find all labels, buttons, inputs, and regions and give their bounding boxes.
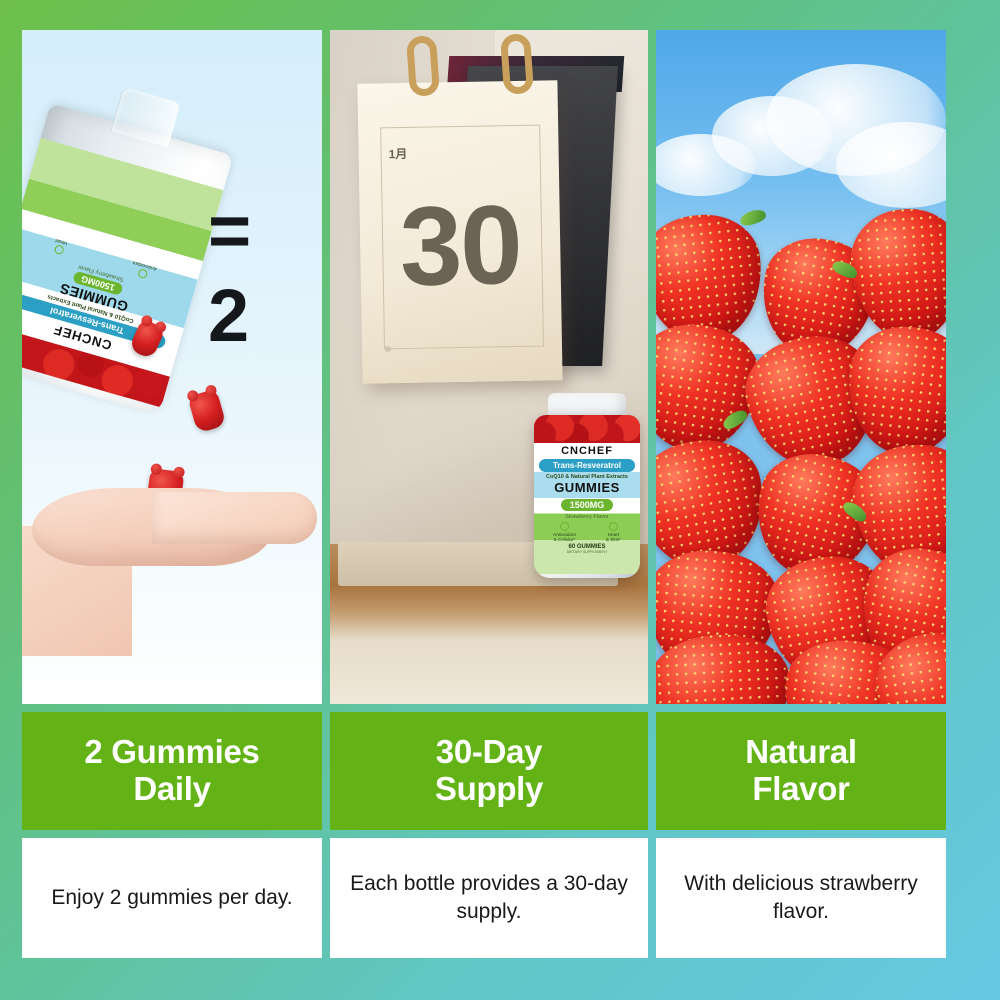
- body-row: Enjoy 2 gummies per day. Each bottle pro…: [22, 838, 978, 958]
- bottle-label-form: GUMMIES: [534, 480, 640, 495]
- bottle-claim-heart-l2: & Skin*: [606, 537, 621, 542]
- heart-icon: [609, 522, 618, 531]
- infographic-frame: CNCHEF Trans-Resveratrol CoQ10 & Natural…: [22, 30, 978, 958]
- body-flavor: With delicious strawberry flavor.: [656, 838, 946, 958]
- panel-image-flavor: [656, 30, 946, 704]
- headline-supply-line2: Supply: [435, 770, 543, 807]
- bottle-claim-heart: Heart & Skin*: [606, 522, 621, 542]
- claim-heart: Heart: [52, 237, 68, 256]
- strawberry-leaf: [739, 208, 768, 228]
- calendar-day: 30: [359, 188, 561, 303]
- product-bottle: CNCHEF Trans-Resveratrol CoQ10 & Natural…: [534, 393, 640, 578]
- headline-supply: 30-Day Supply: [330, 712, 648, 830]
- equals-two-overlay: = 2: [208, 188, 322, 358]
- divider-above-body: [22, 830, 978, 838]
- headline-dosage-line2: Daily: [133, 770, 210, 807]
- bottle-claim-antioxidant-l2: & Cellular*: [553, 537, 576, 542]
- bottle-label-strength: 1500MG: [561, 499, 614, 511]
- bottle-label-brand: CNCHEF: [534, 445, 640, 457]
- hand-fingers: [152, 492, 317, 544]
- headline-row: 2 Gummies Daily 30-Day Supply Natural Fl…: [22, 712, 978, 830]
- divider-above-headlines: [22, 704, 978, 712]
- calendar-ring: [406, 35, 440, 97]
- body-supply: Each bottle provides a 30-day supply.: [330, 838, 648, 958]
- calendar-front-page: 1月 30 ❊: [357, 80, 562, 383]
- leaf-icon: [560, 522, 569, 531]
- bottle-label-claims: Antioxidant & Cellular* Heart & Skin*: [534, 522, 640, 542]
- panel-image-dosage: CNCHEF Trans-Resveratrol CoQ10 & Natural…: [22, 30, 322, 704]
- leaf-icon: [137, 268, 148, 279]
- bottle-label-supplement: DIETARY SUPPLEMENT: [534, 550, 640, 554]
- headline-flavor-line2: Flavor: [752, 770, 849, 807]
- heart-icon: [53, 244, 64, 255]
- calendar-month: 1月: [388, 145, 407, 162]
- bottle-label: CNCHEF Trans-Resveratrol CoQ10 & Natural…: [534, 443, 640, 574]
- image-row: CNCHEF Trans-Resveratrol CoQ10 & Natural…: [22, 30, 978, 704]
- headline-dosage: 2 Gummies Daily: [22, 712, 322, 830]
- calendar-footer-mark: ❊: [384, 344, 392, 355]
- open-hand: [22, 470, 322, 670]
- bottle-label-name: Trans-Resveratrol: [539, 459, 635, 472]
- body-dosage: Enjoy 2 gummies per day.: [22, 838, 322, 958]
- bottle-body: CNCHEF Trans-Resveratrol CoQ10 & Natural…: [534, 415, 640, 578]
- headline-flavor-line1: Natural: [745, 733, 857, 770]
- headline-flavor: Natural Flavor: [656, 712, 946, 830]
- headline-supply-line1: 30-Day: [436, 733, 542, 770]
- bottle-label-flavor: Strawberry Flavor: [534, 514, 640, 520]
- panel-image-supply: 1月 30 ❊ CNCHEF Trans-Resveratrol CoQ10 &…: [330, 30, 648, 704]
- calendar-ring: [500, 33, 534, 95]
- bottle-claim-antioxidant: Antioxidant & Cellular*: [553, 522, 576, 542]
- headline-dosage-line1: 2 Gummies: [84, 733, 259, 770]
- strawberry-pile: [656, 205, 946, 704]
